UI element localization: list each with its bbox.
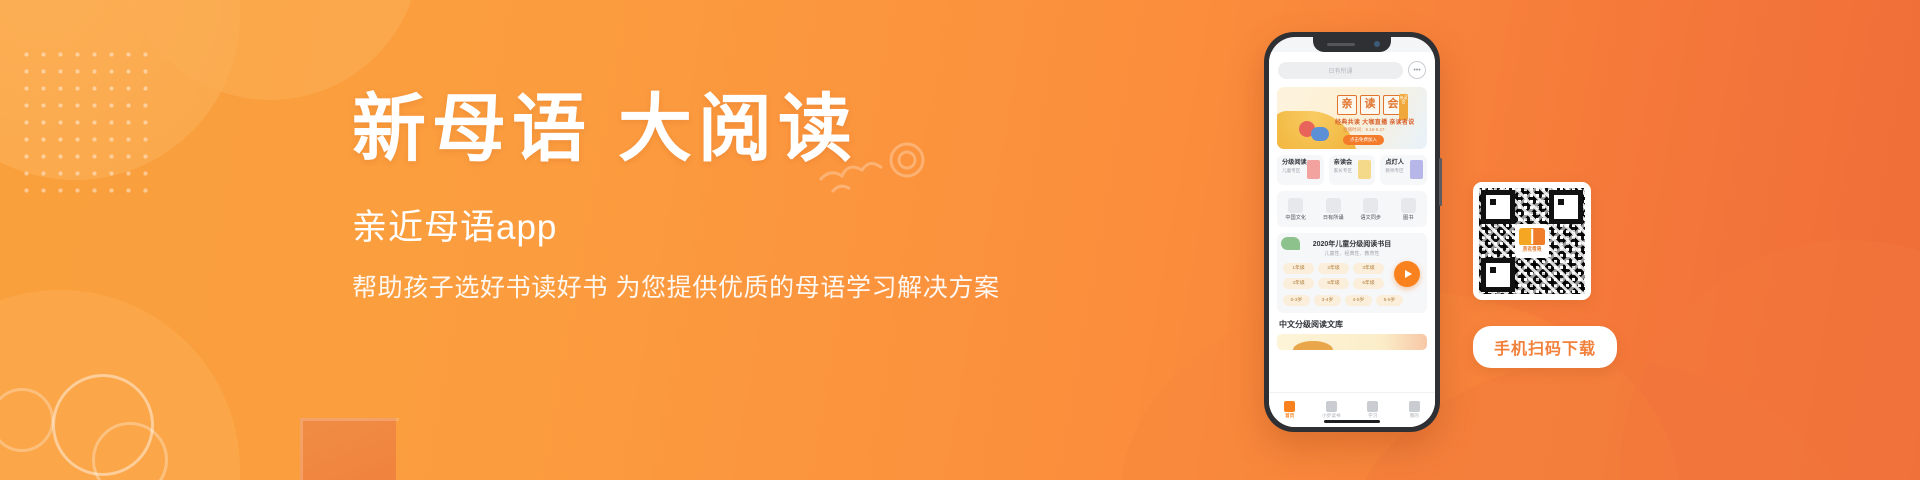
- more-icon[interactable]: •••: [1408, 61, 1426, 79]
- tab-label: 小步读书: [1311, 414, 1353, 419]
- quick-link-label: 语文同步: [1352, 216, 1390, 221]
- hero-join-button[interactable]: 点击免费加入: [1343, 135, 1384, 145]
- home-indicator: [1324, 420, 1380, 423]
- page-title: 新母语大阅读: [352, 92, 1052, 166]
- bookmark-icon: [1358, 160, 1371, 179]
- culture-icon: [1288, 198, 1303, 213]
- decor-blob-bottom-right: [1620, 240, 1920, 480]
- qr-block: 亲近母语 QIN JIN MU YU 手机扫码下载: [1473, 182, 1617, 368]
- search-input[interactable]: 日有所诵: [1278, 62, 1403, 79]
- recite-icon: [1326, 198, 1341, 213]
- age-chip[interactable]: 4-5岁: [1345, 295, 1372, 306]
- qr-finder-top-left: [1481, 190, 1515, 224]
- library-section-title: 中文分级阅读文库: [1279, 321, 1435, 329]
- category-card-graded-reading[interactable]: 分级阅读 儿童专区: [1277, 155, 1324, 185]
- library-banner[interactable]: [1277, 334, 1427, 350]
- phone-notch: [1313, 37, 1391, 52]
- grade-chip[interactable]: 1年级: [1283, 263, 1314, 274]
- user-icon: [1409, 401, 1420, 412]
- bookmark-icon: [1410, 160, 1423, 179]
- sync-icon: [1363, 198, 1378, 213]
- grade-chip[interactable]: 3年级: [1353, 263, 1384, 274]
- hero-date: 直播时间：9.16-9.27: [1343, 127, 1385, 133]
- open-book-icon: [1519, 228, 1545, 245]
- book-list-title: 2020年儿童分级阅读书目: [1283, 241, 1421, 248]
- home-icon: [1284, 401, 1295, 412]
- book-list-card[interactable]: 2020年儿童分级阅读书目 儿童性、经典性、教育性 1年级 2年级 3年级 4年…: [1277, 233, 1427, 313]
- download-button[interactable]: 手机扫码下载: [1473, 326, 1617, 368]
- phone-screen: 日有所诵 ••• 亲 读 会 亲读会 经典共读 大咖直播 亲读者说 直播时间：9…: [1269, 37, 1435, 427]
- hero-title: 亲 读 会: [1337, 95, 1403, 115]
- grade-chip[interactable]: 4年级: [1283, 278, 1314, 289]
- quick-link-culture[interactable]: 中国文化: [1277, 198, 1315, 221]
- phone-mockup: 日有所诵 ••• 亲 读 会 亲读会 经典共读 大咖直播 亲读者说 直播时间：9…: [1264, 32, 1440, 432]
- tab-label: 学习: [1352, 414, 1394, 419]
- notebook-icon: [1326, 401, 1337, 412]
- category-card-row: 分级阅读 儿童专区 亲读会 家长专区 点灯人 教师专区: [1269, 149, 1435, 185]
- quick-link-label: 日有所诵: [1315, 216, 1353, 221]
- qr-code-image: 亲近母语 QIN JIN MU YU: [1479, 188, 1585, 294]
- app-search-row: 日有所诵 •••: [1269, 52, 1435, 85]
- quick-link-books[interactable]: 图书: [1390, 198, 1428, 221]
- quick-link-label: 图书: [1390, 216, 1428, 221]
- clipboard-icon: [1367, 401, 1378, 412]
- qr-card[interactable]: 亲近母语 QIN JIN MU YU: [1473, 182, 1591, 300]
- copy-block: 新母语大阅读 亲近母语app 帮助孩子选好书读好书 为您提供优质的母语学习解决方…: [352, 92, 1052, 301]
- promo-banner: 新母语大阅读 亲近母语app 帮助孩子选好书读好书 为您提供优质的母语学习解决方…: [0, 0, 1920, 480]
- decor-ring-c: [0, 388, 54, 452]
- age-chip[interactable]: 5-6岁: [1376, 295, 1403, 306]
- books-icon: [1401, 198, 1416, 213]
- tab-study[interactable]: 学习: [1352, 401, 1394, 419]
- grade-chip[interactable]: 5年级: [1318, 278, 1349, 289]
- quick-link-row: 中国文化 日有所诵 语文同步 图书: [1277, 191, 1427, 227]
- quick-link-label: 中国文化: [1277, 216, 1315, 221]
- app-name: 亲近母语app: [352, 210, 1052, 245]
- leaf-icon: [1281, 237, 1300, 250]
- decor-blob-top-left-2: [120, 0, 420, 100]
- hero-subtitle: 经典共读 大咖直播 亲读者说: [1335, 117, 1415, 126]
- grade-chip[interactable]: 2年级: [1318, 263, 1349, 274]
- age-chip[interactable]: 3-4岁: [1314, 295, 1341, 306]
- headline-part-2: 大阅读: [618, 86, 858, 172]
- hero-kid-b: [1311, 127, 1329, 141]
- qr-finder-top-right: [1549, 190, 1583, 224]
- tab-label: 我的: [1394, 414, 1436, 419]
- qr-finder-bottom-left: [1481, 258, 1515, 292]
- headline-part-1: 新母语: [352, 86, 592, 172]
- tagline: 帮助孩子选好书读好书 为您提供优质的母语学习解决方案: [352, 276, 1052, 301]
- decor-cube: [300, 418, 396, 480]
- quick-link-sync[interactable]: 语文同步: [1352, 198, 1390, 221]
- hero-char-1: 亲: [1337, 95, 1357, 115]
- quick-link-recite[interactable]: 日有所诵: [1315, 198, 1353, 221]
- category-card-teacher[interactable]: 点灯人 教师专区: [1380, 155, 1427, 185]
- age-chip[interactable]: 0-3岁: [1283, 295, 1310, 306]
- tab-mine[interactable]: 我的: [1394, 401, 1436, 419]
- hero-banner-card[interactable]: 亲 读 会 亲读会 经典共读 大咖直播 亲读者说 直播时间：9.16-9.27 …: [1277, 87, 1427, 149]
- brand-logo: 亲近母语 QIN JIN MU YU: [1515, 224, 1549, 258]
- hero-char-2: 读: [1360, 95, 1380, 115]
- brand-name-en: QIN JIN MU YU: [1522, 251, 1543, 254]
- decor-dot-grid: [18, 46, 150, 196]
- tab-label: 首页: [1269, 414, 1311, 419]
- tab-reading[interactable]: 小步读书: [1311, 401, 1353, 419]
- grade-chip[interactable]: 6年级: [1353, 278, 1384, 289]
- bookmark-icon: [1307, 160, 1320, 179]
- category-card-parent[interactable]: 亲读会 家长专区: [1329, 155, 1376, 185]
- age-chip-row: 0-3岁 3-4岁 4-5岁 5-6岁: [1283, 295, 1421, 306]
- tab-home[interactable]: 首页: [1269, 401, 1311, 419]
- book-list-subtitle: 儿童性、经典性、教育性: [1283, 252, 1421, 257]
